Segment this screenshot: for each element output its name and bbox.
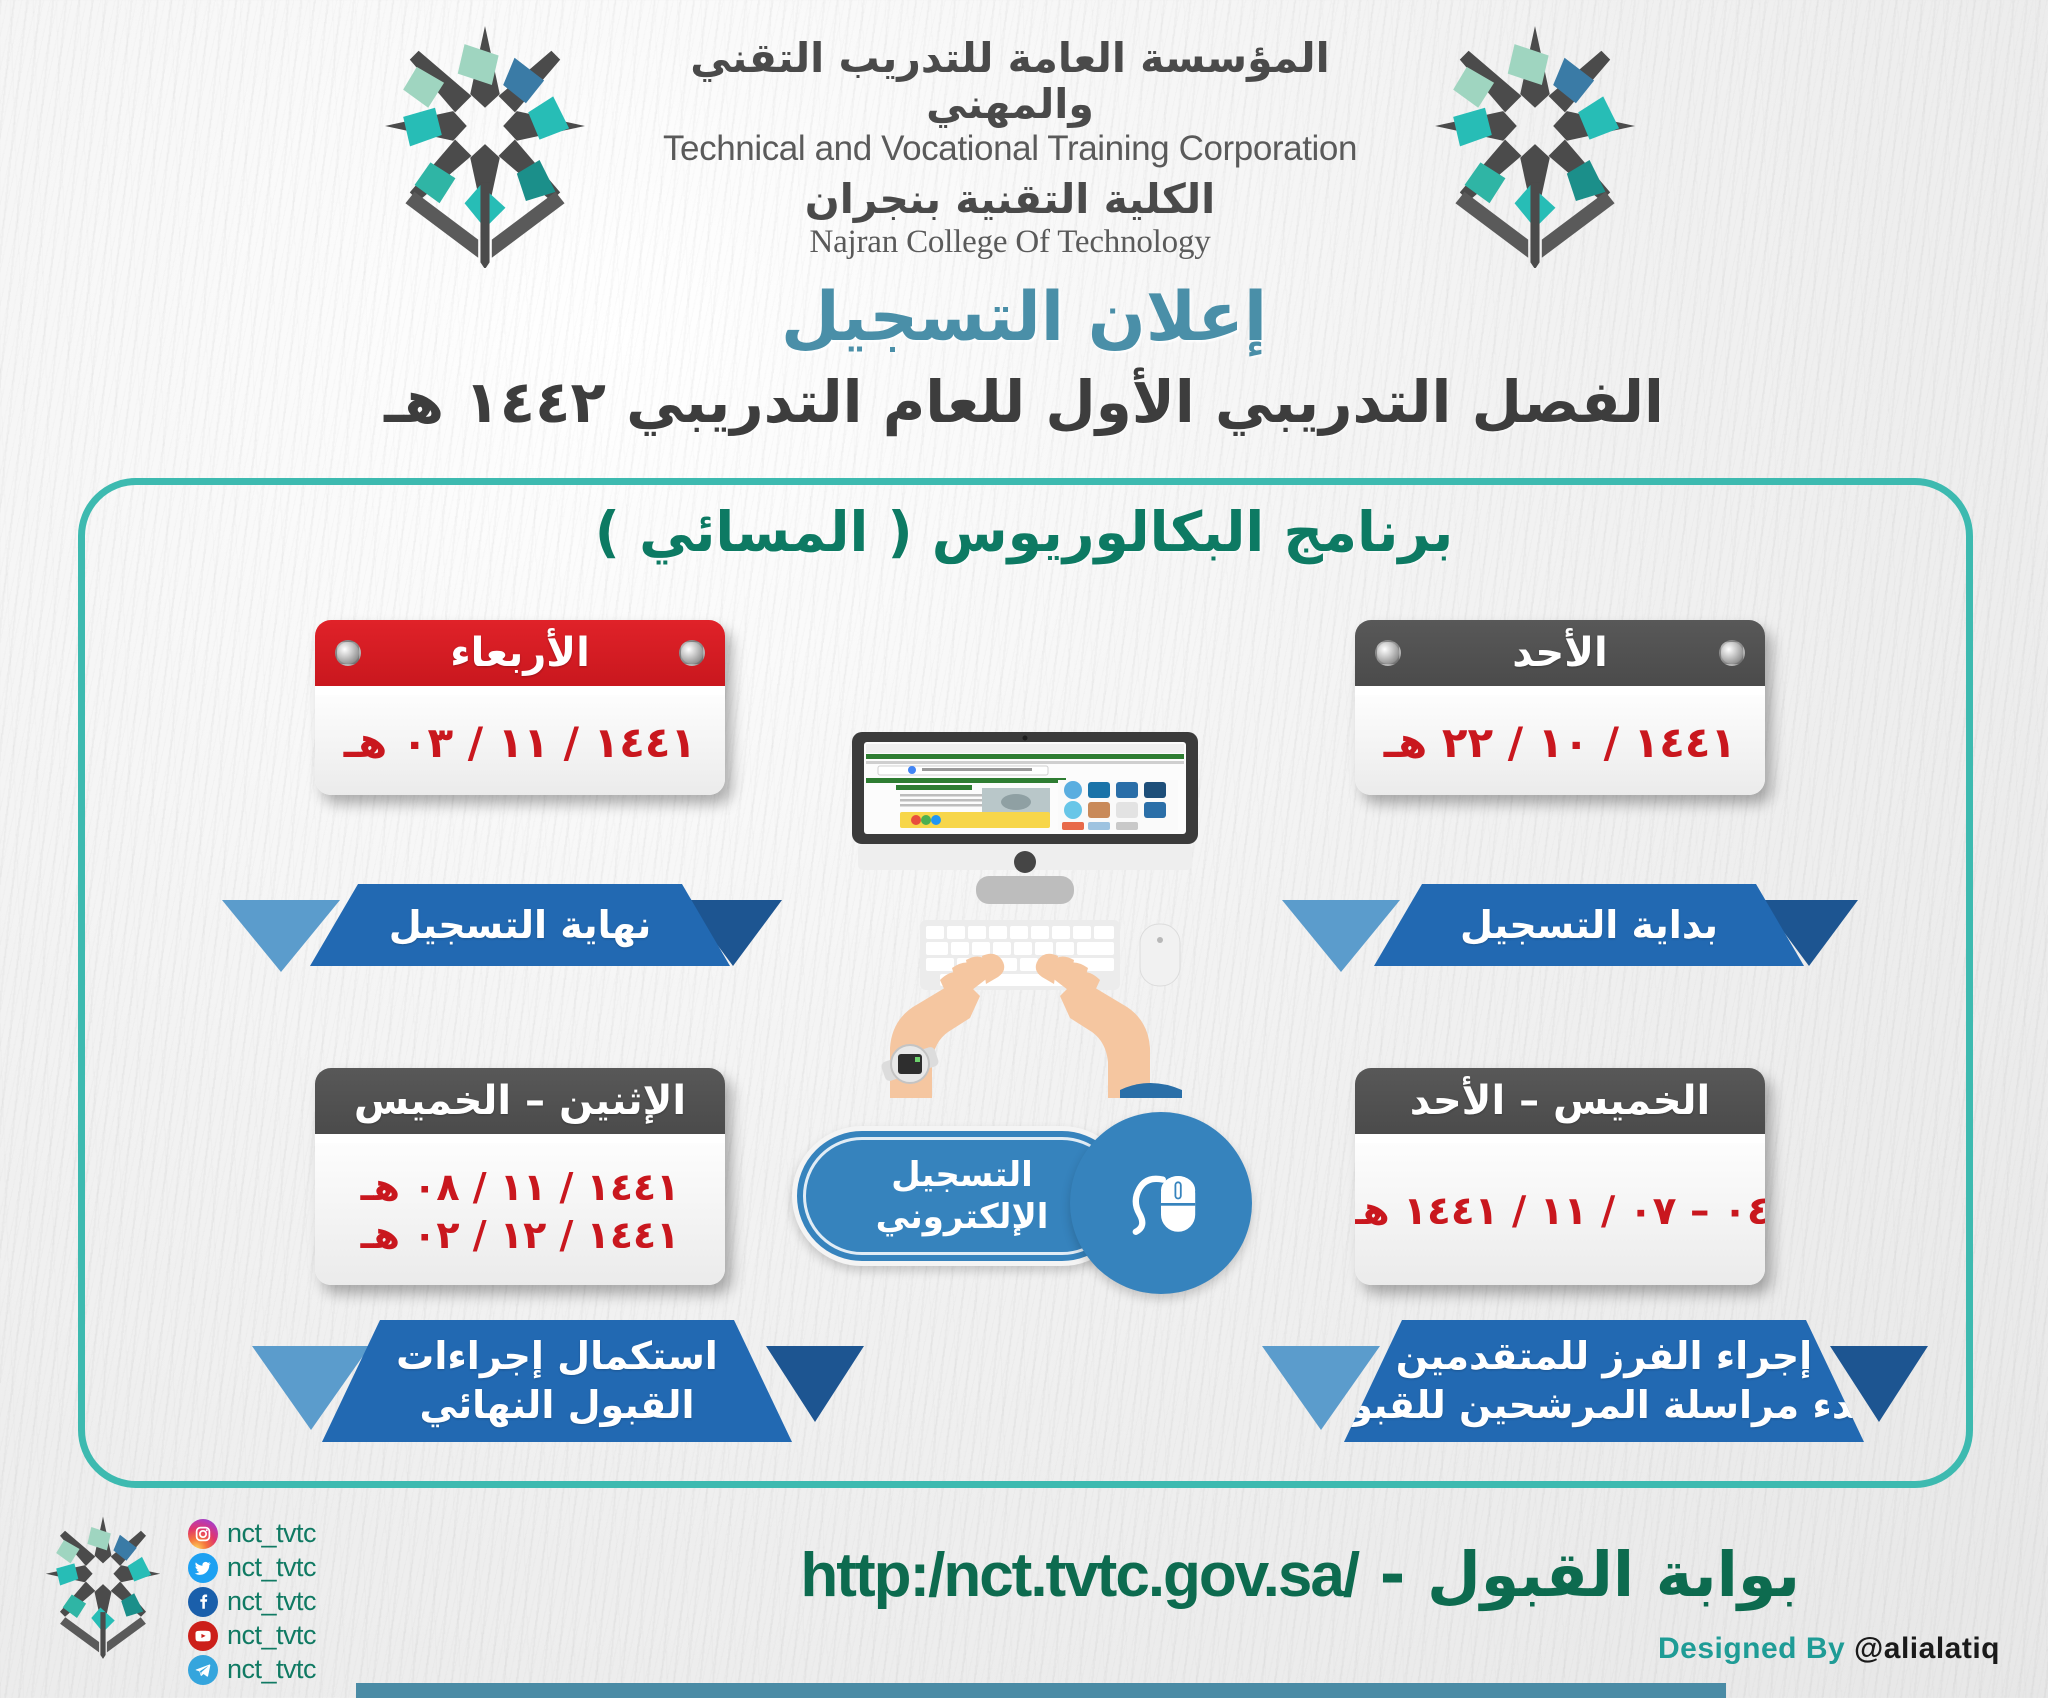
ribbon-label-line2: القبول النهائي (419, 1381, 694, 1430)
card-header: الإثنين – الخميس (315, 1068, 725, 1134)
perforation-divider (1355, 686, 1765, 695)
card-day-label: الأحد (1512, 633, 1607, 673)
admission-portal-line[interactable]: بوابة القبول - http:/nct.tvtc.gov.sa/ (0, 1538, 1800, 1611)
college-name-en: Najran College Of Technology (620, 223, 1400, 262)
card-body: ١٤٤١ / ١١ / ٠٣ هـ (315, 695, 725, 795)
social-row-youtube[interactable]: nct_tvtc (188, 1620, 368, 1651)
card-day-label: الإثنين – الخميس (354, 1081, 686, 1121)
page-subtitle: الفصل التدريبي الأول للعام التدريبي ١٤٤٢… (0, 368, 2048, 436)
card-body: ١٤٤١ / ١٠ / ٢٢ هـ (1355, 695, 1765, 795)
screw-icon (679, 640, 705, 666)
card-header: الخميس – الأحد (1355, 1068, 1765, 1134)
header: المؤسسة العامة للتدريب التقني والمهني Te… (0, 8, 2048, 278)
date-card-registration-start: الأحد ١٤٤١ / ١٠ / ٢٢ هـ (1355, 620, 1765, 795)
footer-accent-bar (356, 1683, 1726, 1698)
poster-root: المؤسسة العامة للتدريب التقني والمهني Te… (0, 0, 2048, 1698)
card-date: ١٤٤١ / ١٠ / ٢٢ هـ (1384, 717, 1736, 770)
card-day-label: الأربعاء (450, 633, 590, 673)
screw-icon (335, 640, 361, 666)
perforation-divider (315, 686, 725, 695)
card-header: الأربعاء (315, 620, 725, 686)
card-date: ١٤٤١ / ١٢ / ٠٢ هـ (361, 1212, 680, 1260)
org-name-en: Technical and Vocational Training Corpor… (620, 128, 1400, 171)
credit-handle: @alialatiq (1854, 1632, 2000, 1665)
badge-label-line2: الإلكتروني (876, 1197, 1049, 1237)
telegram-icon (188, 1655, 218, 1685)
desktop-computer-illustration (830, 718, 1220, 1098)
credit-label: Designed By (1658, 1632, 1845, 1665)
badge-icon-circle (1070, 1112, 1252, 1294)
social-row-telegram[interactable]: nct_tvtc (188, 1654, 368, 1685)
ribbon-body: إجراء الفرز للمتقدمين وبدء مراسلة المرشح… (1344, 1320, 1864, 1442)
card-body: ١٤٤١ / ١١ / ٠٨ هـ ١٤٤١ / ١٢ / ٠٢ هـ (315, 1143, 725, 1285)
program-title: برنامج البكالوريوس ( المسائي ) (0, 500, 2048, 564)
card-header: الأحد (1355, 620, 1765, 686)
date-card-registration-end: الأربعاء ١٤٤١ / ١١ / ٠٣ هـ (315, 620, 725, 795)
electronic-registration-badge[interactable]: التسجيل الإلكتروني (792, 1112, 1310, 1294)
ribbon-registration-end: نهاية التسجيل (222, 884, 782, 966)
tvtc-star-logo-left (1420, 18, 1650, 268)
ribbon-body: استكمال إجراءات القبول النهائي (322, 1320, 792, 1442)
card-date: ١٤٤١ / ١١ / ٠٣ هـ (344, 717, 696, 770)
page-title: إعلان التسجيل (0, 278, 2048, 357)
card-date: ٠٤ – ٠٧ / ١١ / ١٤٤١ هـ (1355, 1187, 1765, 1236)
youtube-icon (188, 1621, 218, 1651)
ribbon-label: نهاية التسجيل (389, 901, 651, 950)
badge-label-line1: التسجيل (891, 1155, 1033, 1195)
social-handle: nct_tvtc (227, 1654, 316, 1685)
portal-url[interactable]: http:/nct.tvtc.gov.sa/ (800, 1541, 1358, 1610)
portal-label: بوابة القبول (1427, 1538, 1800, 1611)
card-day-label: الخميس – الأحد (1410, 1081, 1711, 1121)
date-card-final-admission: الإثنين – الخميس ١٤٤١ / ١١ / ٠٨ هـ ١٤٤١ … (315, 1068, 725, 1285)
date-card-screening: الخميس – الأحد ٠٤ – ٠٧ / ١١ / ١٤٤١ هـ (1355, 1068, 1765, 1285)
social-handle: nct_tvtc (227, 1620, 316, 1651)
computer-mouse-icon (1107, 1149, 1215, 1257)
ribbon-flap-right (766, 1346, 864, 1422)
perforation-divider (315, 1134, 725, 1143)
ribbon-body: بداية التسجيل (1374, 884, 1804, 966)
ribbon-label: بداية التسجيل (1460, 901, 1718, 950)
ribbon-body: نهاية التسجيل (310, 884, 730, 966)
designer-credit: Designed By @alialatiq (1658, 1632, 2000, 1666)
ribbon-screening: إجراء الفرز للمتقدمين وبدء مراسلة المرشح… (1262, 1320, 1942, 1402)
college-name-ar: الكلية التقنية بنجران (620, 175, 1400, 223)
ribbon-final-admission: استكمال إجراءات القبول النهائي (252, 1320, 872, 1402)
perforation-divider (1355, 1134, 1765, 1143)
screw-icon (1719, 640, 1745, 666)
ribbon-registration-start: بداية التسجيل (1282, 884, 1862, 966)
header-text-block: المؤسسة العامة للتدريب التقني والمهني Te… (620, 36, 1400, 262)
card-body: ٠٤ – ٠٧ / ١١ / ١٤٤١ هـ (1355, 1143, 1765, 1285)
card-date: ١٤٤١ / ١١ / ٠٨ هـ (361, 1164, 680, 1212)
ribbon-label-line2: وبدء مراسلة المرشحين للقبول (1316, 1381, 1891, 1430)
ribbon-label-line1: استكمال إجراءات (396, 1332, 718, 1381)
tvtc-star-logo-right (370, 18, 600, 268)
separator-dash: - (1380, 1538, 1406, 1611)
ribbon-label-line1: إجراء الفرز للمتقدمين (1396, 1332, 1812, 1381)
screw-icon (1375, 640, 1401, 666)
org-name-ar: المؤسسة العامة للتدريب التقني والمهني (620, 36, 1400, 128)
